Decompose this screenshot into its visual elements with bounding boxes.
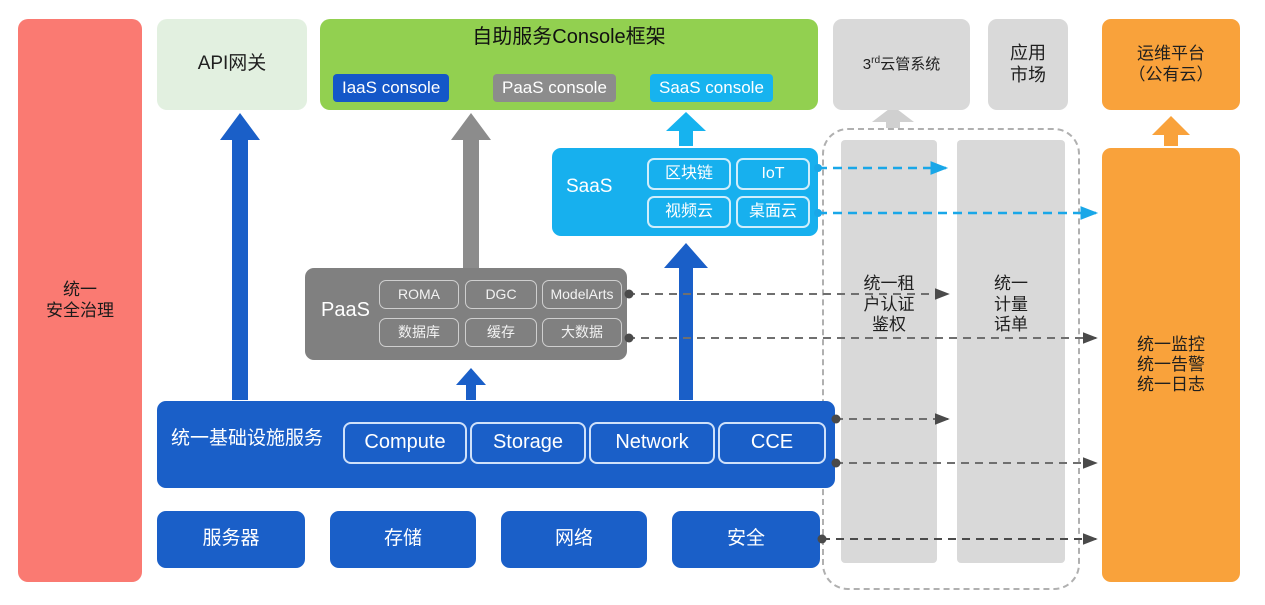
arrow-infra-to-saas bbox=[664, 243, 708, 400]
paas-service-modelarts[interactable]: ModelArts bbox=[542, 280, 622, 309]
app-market-label: 应用 市场 bbox=[1010, 43, 1046, 85]
arrow-saas-to-saas-console bbox=[666, 112, 706, 146]
infra-service-storage[interactable]: Storage bbox=[470, 422, 586, 464]
paas-service-roma[interactable]: ROMA bbox=[379, 280, 459, 309]
ordinal-superscript: rd bbox=[871, 55, 880, 66]
arrow-paas-to-console bbox=[451, 113, 491, 268]
paas-service-bigdata[interactable]: 大数据 bbox=[542, 318, 622, 347]
third-party-cloud-management-label: 3rd云管系统 bbox=[863, 55, 940, 74]
paas-block: PaaS ROMA DGC ModelArts 数据库 缓存 大数据 bbox=[305, 268, 627, 360]
resource-label-network: 网络 bbox=[555, 528, 593, 550]
resource-box-storage: 存储 bbox=[330, 511, 476, 568]
api-gateway-box: API网关 bbox=[157, 19, 307, 110]
resource-label-security: 安全 bbox=[727, 528, 765, 550]
unified-monitoring-label: 统一监控 统一告警 统一日志 bbox=[1137, 335, 1205, 395]
infra-service-compute[interactable]: Compute bbox=[343, 422, 467, 464]
console-frame-title: 自助服务Console框架 bbox=[320, 26, 818, 50]
architecture-diagram: 统一 安全治理 API网关 自助服务Console框架 IaaS console… bbox=[0, 0, 1265, 605]
saas-block-label: SaaS bbox=[566, 176, 612, 198]
unified-infrastructure-bar: 统一基础设施服务 Compute Storage Network CCE bbox=[157, 401, 835, 488]
ops-platform-public-cloud-box: 运维平台 （公有云） bbox=[1102, 19, 1240, 110]
paas-block-label: PaaS bbox=[321, 299, 370, 323]
iaas-console-chip[interactable]: IaaS console bbox=[333, 74, 449, 102]
resource-box-network: 网络 bbox=[501, 511, 647, 568]
paas-service-dgc[interactable]: DGC bbox=[465, 280, 537, 309]
unified-metering-billing-column: 统一 计量 话单 bbox=[957, 140, 1065, 563]
saas-service-iot[interactable]: IoT bbox=[736, 158, 810, 190]
arrow-infra-to-paas bbox=[456, 368, 486, 400]
api-gateway-label: API网关 bbox=[198, 53, 267, 75]
third-party-cloud-management-box: 3rd云管系统 bbox=[833, 19, 970, 110]
saas-service-desktop-cloud[interactable]: 桌面云 bbox=[736, 196, 810, 228]
paas-service-database[interactable]: 数据库 bbox=[379, 318, 459, 347]
resource-box-security: 安全 bbox=[672, 511, 820, 568]
arrow-ops-panel-to-ops-top bbox=[1152, 116, 1190, 146]
infra-service-cce[interactable]: CCE bbox=[718, 422, 826, 464]
security-label: 统一 安全治理 bbox=[46, 280, 114, 320]
resource-label-storage: 存储 bbox=[384, 528, 422, 550]
paas-console-chip[interactable]: PaaS console bbox=[493, 74, 616, 102]
resource-label-server: 服务器 bbox=[202, 528, 259, 550]
saas-console-chip[interactable]: SaaS console bbox=[650, 74, 773, 102]
unified-monitoring-panel: 统一监控 统一告警 统一日志 bbox=[1102, 148, 1240, 582]
ops-platform-top-label: 运维平台 （公有云） bbox=[1129, 44, 1214, 84]
unified-security-governance-panel: 统一 安全治理 bbox=[18, 19, 142, 582]
infra-service-network[interactable]: Network bbox=[589, 422, 715, 464]
saas-service-video-cloud[interactable]: 视频云 bbox=[647, 196, 731, 228]
paas-service-cache[interactable]: 缓存 bbox=[465, 318, 537, 347]
unified-tenant-auth-label: 统一租 户认证 鉴权 bbox=[864, 274, 915, 336]
unified-infrastructure-label: 统一基础设施服务 bbox=[171, 428, 323, 450]
resource-box-server: 服务器 bbox=[157, 511, 305, 568]
self-service-console-frame: 自助服务Console框架 IaaS console PaaS console … bbox=[320, 19, 818, 110]
saas-service-blockchain[interactable]: 区块链 bbox=[647, 158, 731, 190]
app-market-box: 应用 市场 bbox=[988, 19, 1068, 110]
arrow-infra-to-api-gateway bbox=[220, 113, 260, 400]
unified-metering-billing-label: 统一 计量 话单 bbox=[994, 274, 1028, 336]
unified-tenant-auth-column: 统一租 户认证 鉴权 bbox=[841, 140, 937, 563]
saas-block: SaaS 区块链 IoT 视频云 桌面云 bbox=[552, 148, 818, 236]
